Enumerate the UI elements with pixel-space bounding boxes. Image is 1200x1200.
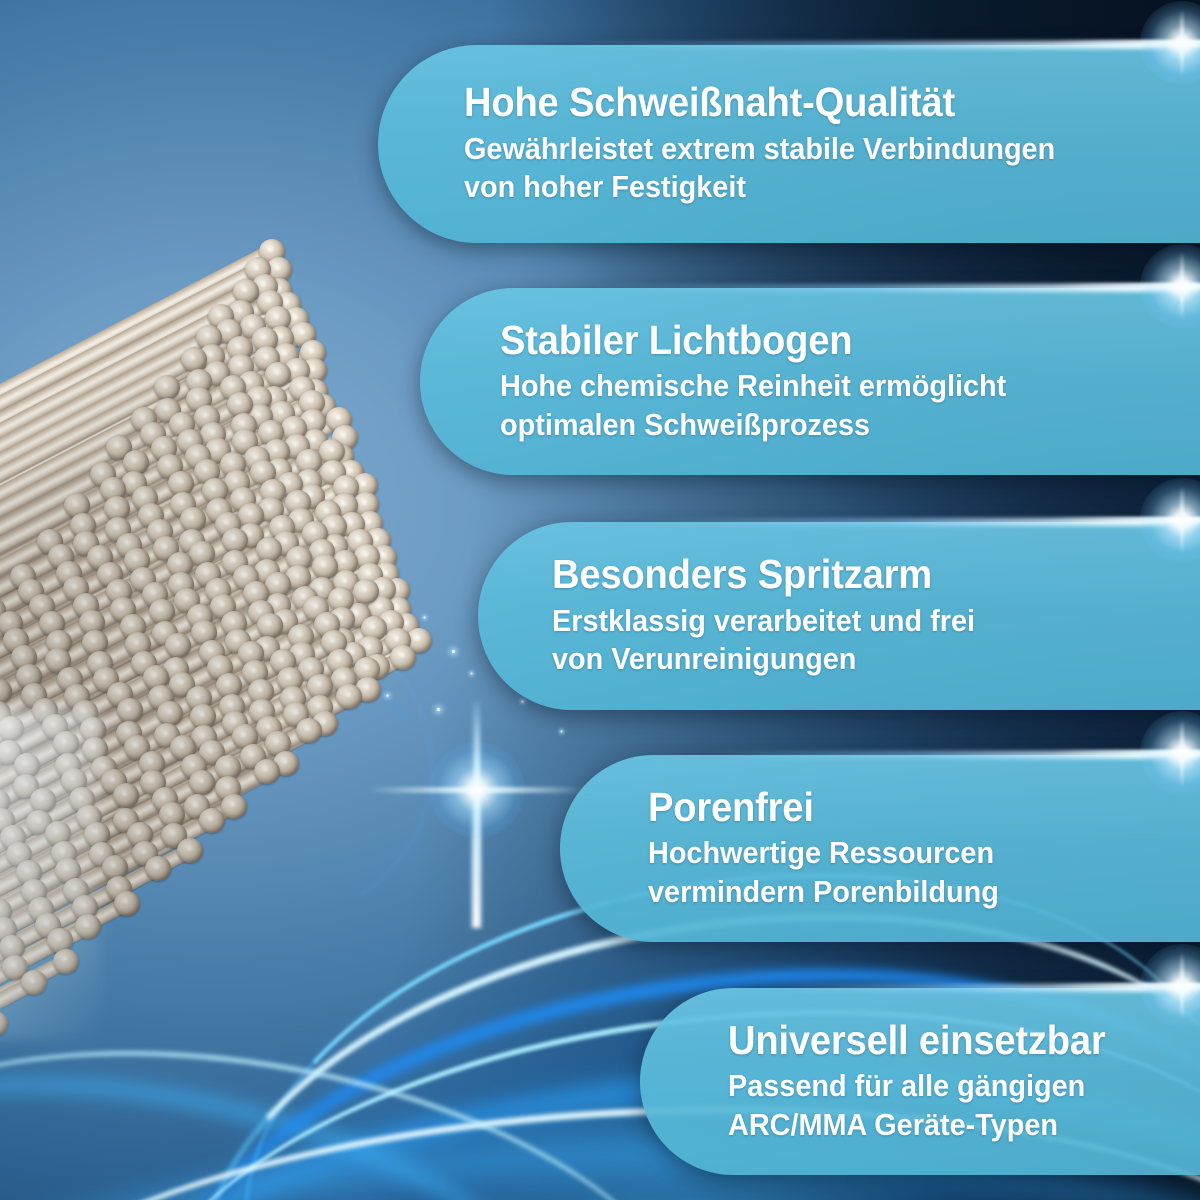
infographic-canvas: Hohe Schweißnaht-QualitätGewährleistet e… [0, 0, 1200, 1200]
feature-title: Besonders Spritzarm [552, 553, 1142, 596]
feature-title: Stabiler Lichtbogen [500, 319, 1138, 362]
welding-rod-tip [336, 684, 362, 709]
feature-panel-3[interactable]: Besonders SpritzarmErstklassig verarbeit… [478, 522, 1200, 710]
welding-rod-tip [353, 579, 379, 604]
feature-panel-5[interactable]: Universell einsetzbarPassend für alle gä… [640, 988, 1200, 1175]
welding-rod-tip [390, 645, 416, 670]
feature-description-line: optimalen Schweißprozess [500, 406, 1138, 444]
feature-description-line: ARC/MMA Geräte-Typen [728, 1106, 1154, 1144]
welding-rod-tip [254, 759, 280, 784]
welding-rod-tip [199, 808, 225, 833]
welding-rod-tip [221, 794, 247, 819]
feature-title: Hohe Schweißnaht-Qualität [464, 81, 1135, 124]
welding-rod-tip [30, 788, 56, 813]
feature-description-line: vermindern Porenbildung [648, 873, 1148, 911]
feature-description-line: Gewährleistet extrem stabile Verbindunge… [464, 130, 1135, 168]
welding-rod-tip [117, 698, 143, 723]
feature-description-line: Hochwertige Ressourcen [648, 834, 1148, 872]
welding-rod [0, 976, 37, 1200]
feature-description-line: Hohe chemische Reinheit ermöglicht [500, 367, 1138, 405]
welding-rod-tip [114, 891, 140, 916]
welding-rod-tip [0, 716, 24, 741]
feature-title: Porenfrei [648, 786, 1148, 829]
welding-rod-tip [53, 949, 79, 974]
welding-rod-tip [21, 970, 47, 995]
feature-description-line: Passend für alle gängigen [728, 1067, 1154, 1105]
feature-description-line: Erstklassig verarbeitet und frei [552, 602, 1142, 640]
feature-panel-4[interactable]: PorenfreiHochwertige Ressourcenverminder… [560, 755, 1200, 942]
feature-description-line: von Verunreinigungen [552, 640, 1142, 678]
feature-description-line: von hoher Festigkeit [464, 168, 1135, 206]
welding-rod-tip [296, 718, 322, 743]
welding-rod-tip [177, 838, 203, 863]
welding-rod-tip [145, 856, 171, 881]
welding-rod-tip [256, 537, 282, 562]
welding-rod-tip [257, 613, 283, 638]
welding-rod-tip [75, 914, 101, 939]
feature-title: Universell einsetzbar [728, 1019, 1154, 1062]
feature-panel-1[interactable]: Hohe Schweißnaht-QualitätGewährleistet e… [378, 45, 1200, 243]
feature-panel-2[interactable]: Stabiler LichtbogenHohe chemische Reinhe… [420, 288, 1200, 475]
welding-rod-tip [0, 1011, 8, 1036]
